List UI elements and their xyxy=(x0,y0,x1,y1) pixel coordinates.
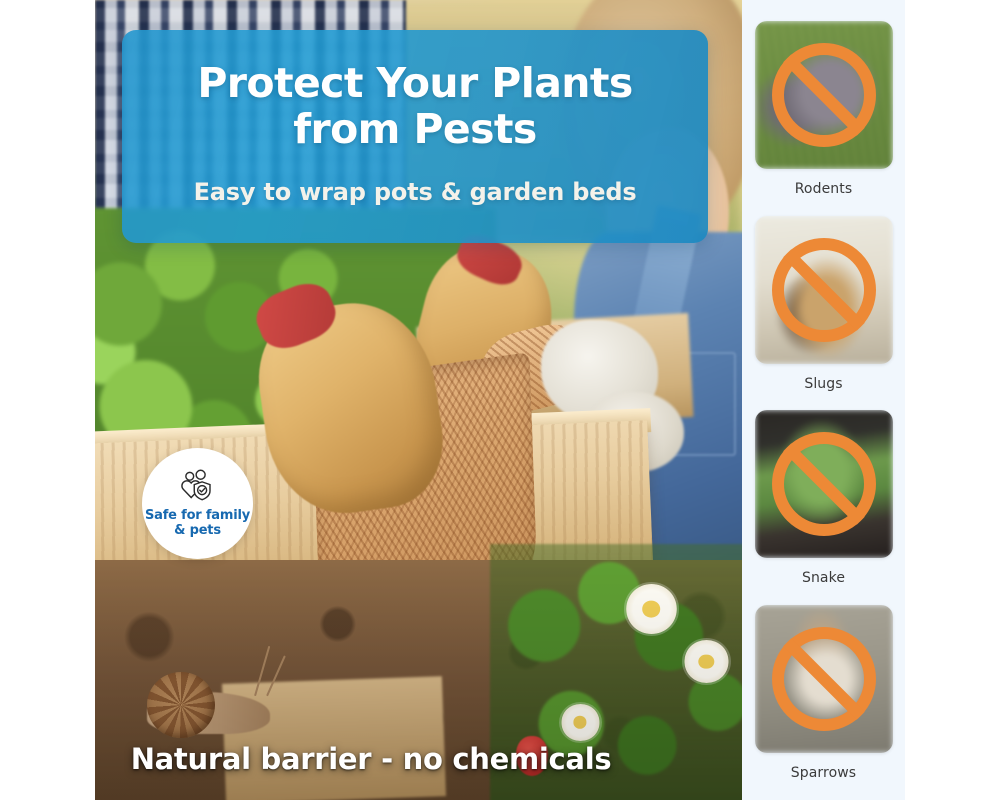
flower-center xyxy=(643,600,661,617)
headline-title-line-1: Protect Your Plants xyxy=(197,59,632,107)
pest-label: Slugs xyxy=(804,376,842,392)
pest-thumbnail[interactable] xyxy=(755,410,893,558)
bottom-caption: Natural barrier - no chemicals xyxy=(0,742,742,776)
headline-subtitle: Easy to wrap pots & garden beds xyxy=(194,178,637,206)
flower-center xyxy=(699,654,714,669)
no-entry-icon xyxy=(772,627,876,731)
headline-banner: Protect Your Plants from Pests Easy to w… xyxy=(122,30,708,243)
hero-panel: Protect Your Plants from Pests Easy to w… xyxy=(0,0,742,800)
pest-label: Rodents xyxy=(795,181,853,197)
pest-item-slugs[interactable]: Slugs xyxy=(755,216,893,392)
family-shield-icon xyxy=(177,469,219,503)
pest-thumbnail[interactable] xyxy=(755,605,893,753)
pest-list: Rodents Slugs xyxy=(742,0,905,800)
product-infographic: Protect Your Plants from Pests Easy to w… xyxy=(0,0,1000,800)
snail-shell xyxy=(147,672,215,738)
pest-thumbnail[interactable] xyxy=(755,216,893,364)
flower-center xyxy=(574,716,587,729)
headline-title-line-2: from Pests xyxy=(293,105,536,153)
pest-label: Sparrows xyxy=(791,765,856,781)
pest-sidebar: Rodents Slugs xyxy=(742,0,1000,800)
strawberry-flower xyxy=(626,584,678,634)
no-entry-icon xyxy=(772,43,876,147)
headline-title: Protect Your Plants from Pests xyxy=(179,61,650,153)
badge-label: Safe for family & pets xyxy=(145,508,250,539)
strawberry-flower xyxy=(561,704,600,741)
pest-label: Snake xyxy=(802,570,845,586)
pest-item-rodents[interactable]: Rodents xyxy=(755,21,893,197)
pest-item-sparrows[interactable]: Sparrows xyxy=(755,605,893,781)
pest-thumbnail[interactable] xyxy=(755,21,893,169)
no-entry-icon xyxy=(772,432,876,536)
pest-item-snake[interactable]: Snake xyxy=(755,410,893,586)
strawberry-flower xyxy=(684,640,729,683)
badge-label-line-1: Safe for family xyxy=(145,508,250,523)
no-entry-icon xyxy=(772,238,876,342)
badge-label-line-2: & pets xyxy=(174,523,221,538)
safe-for-family-badge: Safe for family & pets xyxy=(142,448,253,559)
